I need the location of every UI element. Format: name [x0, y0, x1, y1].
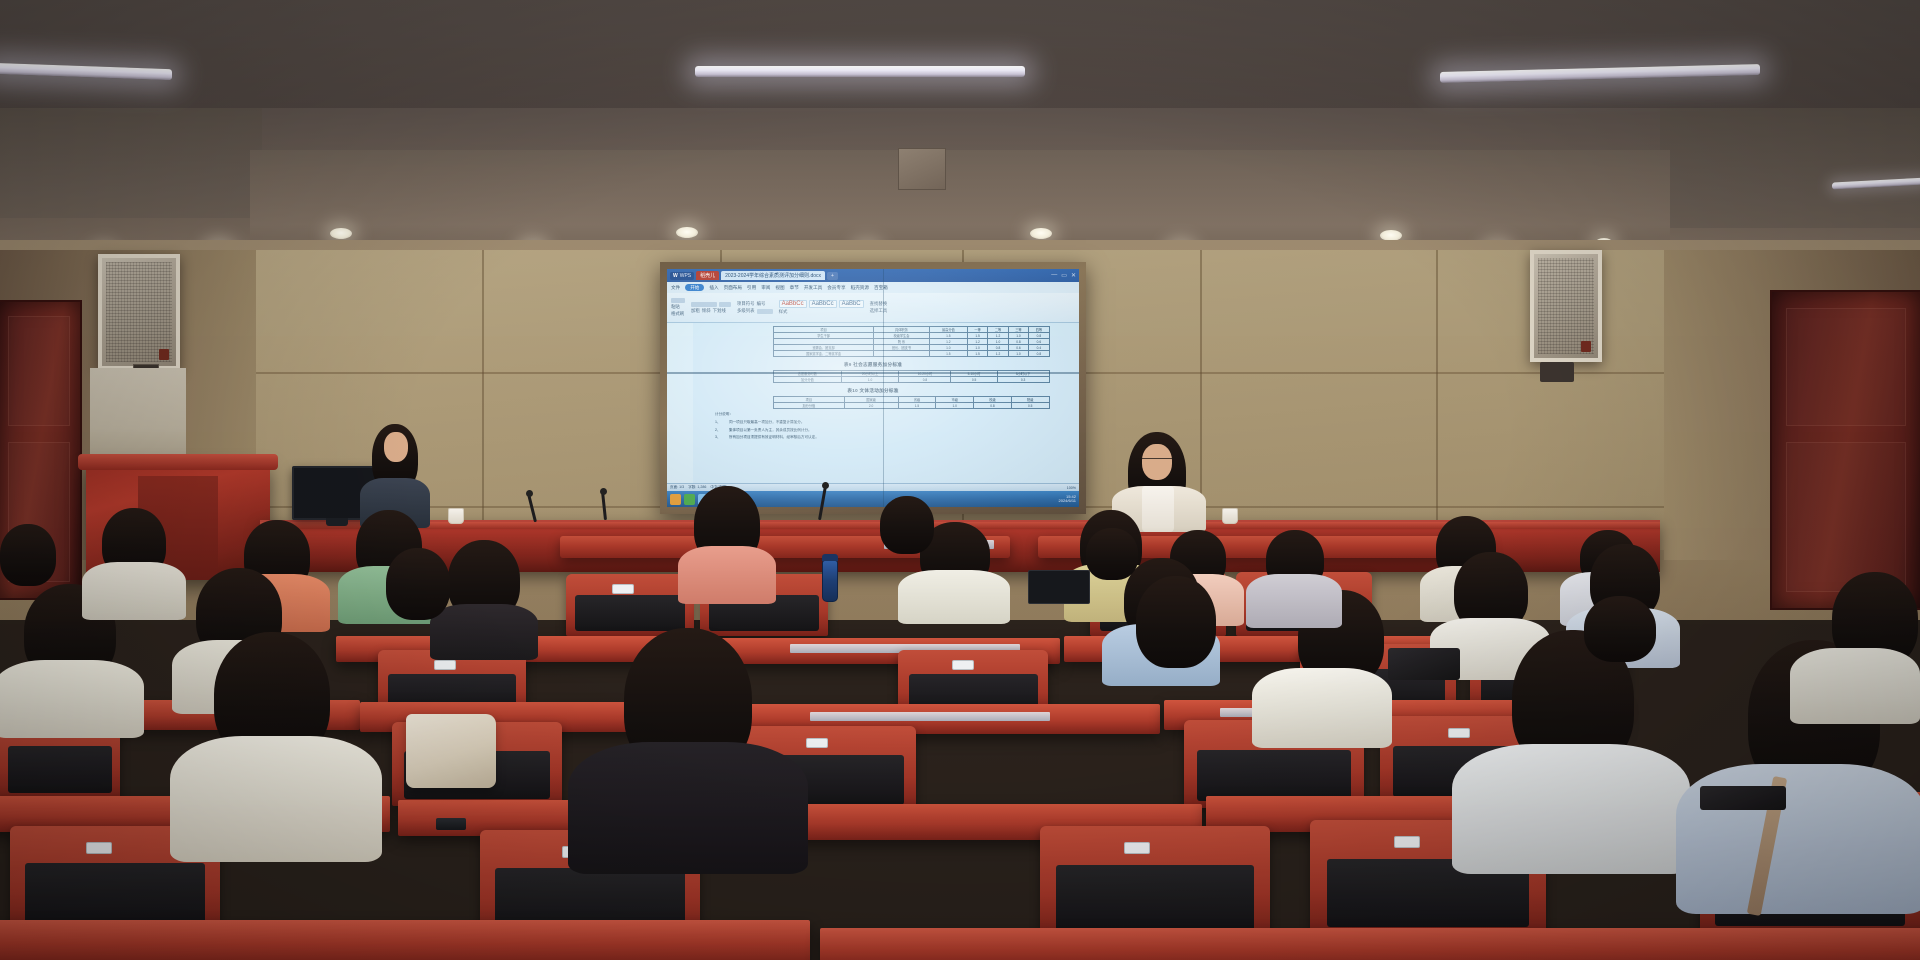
attendee-hair	[880, 496, 934, 554]
podium-backdrop	[90, 368, 186, 468]
table-cell: 1.0	[841, 377, 899, 383]
ribbon-tab-view[interactable]: 视图	[775, 285, 784, 291]
seat-cushion	[25, 863, 206, 927]
attendee-hair	[1584, 596, 1656, 662]
word-count: 字数: 1,286	[688, 485, 706, 490]
wps-tab-template-store[interactable]: 稻壳儿	[696, 271, 719, 280]
desk-ledge-foreground-left	[0, 920, 810, 960]
table-cell: 1.5	[929, 351, 967, 357]
attendee-hair	[1136, 576, 1216, 668]
attendee-torso	[1452, 744, 1690, 874]
zoom-level[interactable]: 100%	[1067, 486, 1076, 490]
find-replace-label[interactable]: 查找替换	[870, 301, 888, 307]
start-button-icon[interactable]	[670, 494, 681, 505]
note-item: 3、 所有加分项目须提供有效证明材料，经审核后方可认定。	[715, 435, 1065, 440]
table-cell: 加分分值	[774, 377, 841, 383]
ceiling-drop-right	[1660, 108, 1920, 228]
table-row: 加分分值 1.0 0.8 0.5 0.3	[774, 377, 1049, 383]
attendee-torso	[430, 604, 538, 660]
wps-tab-document[interactable]: 2023-2024学年综合素质测评加分细则.docx	[721, 271, 825, 280]
table-10-sports-scores: 项目 国家级 省级 市级 校级 院级 加分分值 2.0 1.5	[773, 396, 1049, 409]
close-icon[interactable]: ✕	[1071, 272, 1076, 279]
style-heading2[interactable]: AaBbCc	[809, 300, 837, 308]
numbering-button-label[interactable]: 编号	[757, 301, 766, 307]
bullets-button-label[interactable]: 项目符号	[737, 301, 755, 307]
table-9-title: 表9 社会志愿服务加分标准	[681, 362, 1065, 368]
select-tool-label[interactable]: 选择工具	[870, 308, 888, 314]
screen-seam-horizontal	[667, 372, 1079, 374]
eyeglasses-icon	[1142, 458, 1172, 463]
table-10-title: 表10 文体活动加分标准	[681, 388, 1065, 394]
maximize-icon[interactable]: ▭	[1061, 272, 1067, 279]
ribbon-tab-refs[interactable]: 引用	[747, 285, 756, 291]
note-item: 2、 集体项目以第一负责人为主，其余成员按比例计分。	[715, 428, 1065, 433]
wps-new-tab-button[interactable]: +	[827, 272, 838, 280]
style-heading1[interactable]: AaBbCc	[779, 300, 807, 308]
speaker-grille-icon	[106, 262, 172, 362]
ribbon-tab-layout[interactable]: 页面布局	[724, 285, 742, 291]
wall-speaker-right	[1530, 250, 1602, 362]
wps-titlebar: W WPS 稻壳儿 2023-2024学年综合素质测评加分细则.docx + —…	[667, 269, 1079, 282]
attendee-hair	[0, 524, 56, 586]
microphone-head-icon	[822, 482, 829, 489]
ribbon-group-styles[interactable]: AaBbCc AaBbCc AaBbC 样式	[779, 300, 864, 315]
notes-list: 1、 同一项目只取最高一项加分，不重复计算加分。 2、 集体项目以第一负责人为主…	[715, 420, 1065, 440]
speaker-grille-icon	[1538, 258, 1594, 354]
bold-button-label[interactable]: 加粗	[691, 308, 700, 314]
table-cell: 1.2	[988, 351, 1008, 357]
fluorescent-tube-center-icon	[695, 66, 1025, 77]
tote-bag[interactable]	[406, 714, 496, 788]
water-bottle[interactable]	[822, 560, 838, 602]
table-cell: 1.5	[967, 351, 987, 357]
document-page: 项目 具体职务 最高分值 一等 二等 三等 四等 学生干部 校级学生会	[681, 326, 1065, 483]
microphone-head-icon	[600, 488, 607, 495]
attendee-torso	[568, 742, 808, 874]
panel-divider	[1436, 250, 1438, 550]
styles-group-label[interactable]: 样式	[779, 309, 788, 315]
table-cell: 1.0	[936, 403, 974, 409]
door-panel	[1786, 442, 1906, 592]
seat-number-plate	[86, 842, 112, 854]
notes-title: 计分说明：	[715, 412, 1065, 417]
note-number: 1、	[715, 420, 723, 425]
phone-on-desk-right[interactable]	[1700, 786, 1786, 810]
panel-divider	[482, 250, 484, 550]
table-cell: 0.8	[899, 377, 951, 383]
seat-number-plate	[612, 584, 634, 594]
table-cell	[874, 351, 930, 357]
ribbon-tab-review[interactable]: 审阅	[761, 285, 770, 291]
table-cell: 0.3	[997, 377, 1049, 383]
presenter-inner-top	[1142, 486, 1174, 532]
paper-cup-right	[1222, 508, 1238, 524]
multilevel-list-button-label[interactable]: 多级列表	[737, 308, 755, 314]
ribbon-tab-toolbox[interactable]: 百宝箱	[874, 285, 888, 291]
taskbar-icon-explorer[interactable]	[684, 494, 695, 505]
table-8-cadre-scores: 项目 具体职务 最高分值 一等 二等 三等 四等 学生干部 校级学生会	[773, 326, 1049, 357]
ribbon-group-font[interactable]: 加粗 倾斜 下划线	[691, 302, 731, 314]
table-cell: 1.0	[1008, 351, 1028, 357]
seat-number-plate	[806, 738, 828, 748]
table-cell: 国家奖学金、二等奖学金	[774, 351, 874, 357]
wps-document-canvas[interactable]: 项目 具体职务 最高分值 一等 二等 三等 四等 学生干部 校级学生会	[667, 323, 1079, 483]
attendee-hair	[386, 548, 450, 620]
seat-row-e-3[interactable]	[1040, 826, 1270, 940]
attendee-hair	[1086, 528, 1138, 580]
projection-screen-frame: W WPS 稻壳儿 2023-2024学年综合素质测评加分细则.docx + —…	[660, 262, 1086, 514]
note-item: 1、 同一项目只取最高一项加分，不重复计算加分。	[715, 420, 1065, 425]
table-cell: 0.8	[1029, 351, 1049, 357]
lecture-hall-photo: W WPS 稻壳儿 2023-2024学年综合素质测评加分细则.docx + —…	[0, 0, 1920, 960]
podium-top-surface	[78, 454, 278, 470]
note-text: 集体项目以第一负责人为主，其余成员按比例计分。	[729, 428, 812, 433]
attendee-torso	[82, 562, 186, 620]
dark-jacket-on-desk	[1388, 648, 1460, 680]
window-controls[interactable]: — ▭ ✕	[1051, 272, 1076, 279]
italic-button-label[interactable]: 倾斜	[702, 308, 711, 314]
downlight-icon-3	[676, 227, 698, 238]
water-bottle-cap	[822, 554, 838, 561]
table-row: 国家奖学金、二等奖学金 1.5 1.5 1.2 1.0 0.8	[774, 351, 1049, 357]
seat-cushion	[575, 595, 685, 631]
smartphone[interactable]	[436, 818, 466, 830]
screen-seam-vertical	[883, 269, 884, 507]
table-row: 加分分值 2.0 1.5 1.0 0.8 0.5	[774, 403, 1049, 409]
seat-number-plate	[1394, 836, 1420, 848]
attendee-torso	[678, 546, 776, 604]
table-cell: 1.5	[898, 403, 936, 409]
taskbar-clock[interactable]: 15:42 2024/6/11	[1059, 495, 1077, 504]
table-cell: 2.0	[844, 403, 898, 409]
format-painter-label[interactable]: 格式刷	[671, 311, 684, 317]
paper-cup-left	[448, 508, 464, 524]
note-text: 同一项目只取最高一项加分，不重复计算加分。	[729, 420, 804, 425]
ribbon-group-clipboard[interactable]: 粘贴 格式刷	[671, 298, 685, 317]
page-indicator: 页面: 1/3	[670, 485, 684, 490]
downlight-icon-1	[330, 228, 352, 239]
table-cell: 0.5	[951, 377, 997, 383]
downlight-icon-4	[1030, 228, 1052, 239]
note-number: 3、	[715, 435, 723, 440]
door-panel	[8, 316, 70, 426]
seat-number-plate	[1124, 842, 1150, 854]
wps-office-window[interactable]: W WPS 稻壳儿 2023-2024学年综合素质测评加分细则.docx + —…	[667, 269, 1079, 507]
seat-cushion	[8, 746, 111, 794]
seat-number-plate	[1448, 728, 1470, 738]
note-text: 所有加分项目须提供有效证明材料，经审核后方可认定。	[729, 435, 819, 440]
attendee-torso	[1246, 574, 1342, 628]
monitor-stand	[326, 518, 348, 526]
attendee-torso	[1790, 648, 1920, 724]
ribbon-tab-file[interactable]: 文件	[671, 285, 680, 291]
paste-button-label[interactable]: 粘贴	[671, 304, 680, 310]
table-cell: 0.8	[974, 403, 1012, 409]
speaker-badge-icon	[1581, 341, 1591, 352]
ribbon-tab-section[interactable]: 章节	[790, 285, 799, 291]
style-normal[interactable]: AaBbC	[839, 300, 864, 308]
desk-ledge-foreground-right	[820, 928, 1920, 960]
attendee-torso	[898, 570, 1010, 624]
ribbon-group-editing[interactable]: 查找替换 选择工具	[870, 301, 888, 314]
attendee-torso	[1252, 668, 1392, 748]
projection-screen[interactable]: W WPS 稻壳儿 2023-2024学年综合素质测评加分细则.docx + —…	[667, 269, 1079, 507]
underline-button-label[interactable]: 下划线	[713, 308, 726, 314]
ceiling-access-panel	[898, 148, 946, 190]
ceiling-drop-left	[0, 108, 262, 218]
wps-ribbon-tabbar[interactable]: 文件 开始 插入 页面布局 引用 审阅 视图 章节 开发工具 会员专享 稻壳资源…	[667, 282, 1079, 293]
seat-number-plate	[434, 660, 456, 670]
door-right[interactable]	[1770, 290, 1920, 610]
note-number: 2、	[715, 428, 723, 433]
wall-speaker-left	[98, 254, 180, 370]
desk-surface-highlight	[810, 712, 1050, 721]
ribbon-tab-docer[interactable]: 稻壳资源	[851, 285, 869, 291]
table-cell: 加分分值	[774, 403, 844, 409]
speaker-badge-icon	[159, 349, 169, 360]
ribbon-tab-insert[interactable]: 插入	[709, 285, 718, 291]
seat-cushion	[1056, 865, 1254, 931]
minimize-icon[interactable]: —	[1051, 272, 1057, 279]
ribbon-tab-home[interactable]: 开始	[685, 284, 704, 291]
speaker-mount-right	[1540, 362, 1574, 382]
ribbon-tab-member[interactable]: 会员专享	[827, 285, 845, 291]
ribbon-tab-devtools[interactable]: 开发工具	[804, 285, 822, 291]
attendee-torso	[0, 660, 144, 738]
door-panel	[1786, 308, 1906, 426]
laptop-closed[interactable]	[1028, 570, 1090, 604]
attendee-torso	[170, 736, 382, 862]
seat-number-plate	[952, 660, 974, 670]
clock-date: 2024/6/11	[1059, 498, 1077, 503]
ceiling-soffit	[0, 0, 1920, 108]
wps-ribbon[interactable]: 粘贴 格式刷 加粗 倾斜 下划线	[667, 293, 1079, 323]
microphone-head-icon	[526, 490, 533, 497]
ribbon-group-paragraph[interactable]: 项目符号 编号 多级列表	[737, 301, 773, 314]
seat-cushion	[1197, 750, 1352, 801]
table-cell: 0.5	[1011, 403, 1049, 409]
presenter-face	[384, 432, 408, 462]
wps-logo-icon: W WPS	[670, 272, 694, 280]
